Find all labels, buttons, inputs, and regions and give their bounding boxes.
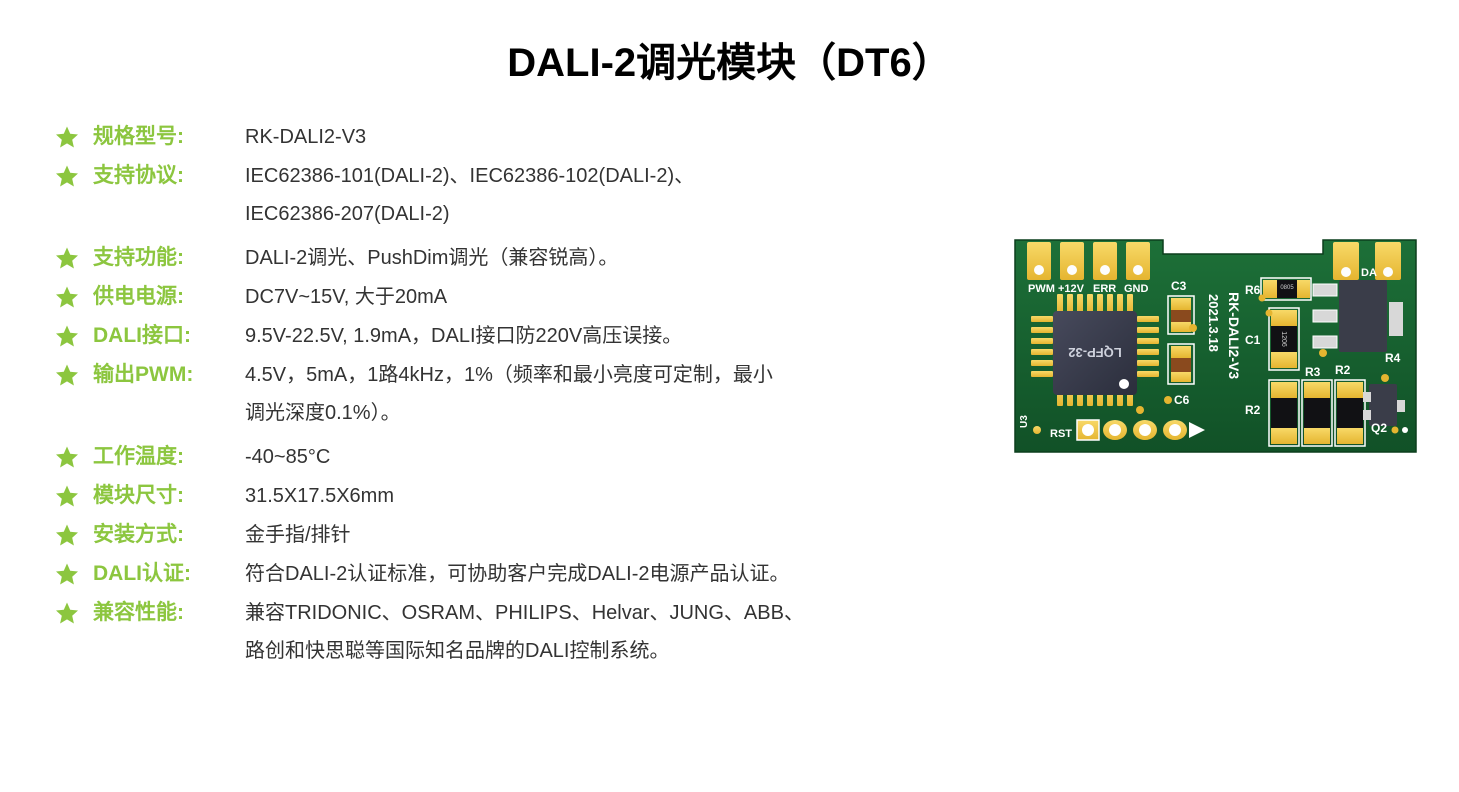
spec-label-model: 规格型号: [93, 122, 245, 152]
pcb-board-image: PWM +12V ERR GND DA [1013, 232, 1418, 460]
page-title: DALI-2调光模块（DT6） [0, 30, 1459, 88]
spec-value-line: 金手指/排针 [245, 520, 1005, 550]
spec-value-module-size: 31.5X17.5X6mm [245, 481, 1005, 511]
pcb-label-c3: C3 [1171, 279, 1187, 293]
star-icon [55, 360, 93, 387]
spec-value-line: IEC62386-207(DALI-2) [245, 199, 1005, 229]
spec-value-line: DC7V~15V, 大于20mA [245, 282, 1005, 312]
spec-value-line: 兼容TRIDONIC、OSRAM、PHILIPS、Helvar、JUNG、ABB… [245, 598, 1005, 628]
pcb-component-code-0805: 0805 [1280, 285, 1294, 291]
star-icon [55, 282, 93, 309]
star-icon [55, 161, 93, 188]
spec-label-power-supply: 供电电源: [93, 282, 245, 312]
spec-row-compatibility: 兼容性能: 兼容TRIDONIC、OSRAM、PHILIPS、Helvar、JU… [55, 598, 1005, 666]
star-icon [55, 559, 93, 586]
star-icon [55, 598, 93, 625]
spec-value-compatibility: 兼容TRIDONIC、OSRAM、PHILIPS、Helvar、JUNG、ABB… [245, 598, 1005, 666]
spec-row-mounting: 安装方式: 金手指/排针 [55, 520, 1005, 550]
spec-value-line: 9.5V-22.5V, 1.9mA，DALI接口防220V高压误接。 [245, 321, 1005, 351]
specification-list: 规格型号: RK-DALI2-V3 支持协议: IEC62386-101(DAL… [55, 122, 1005, 675]
spec-row-operating-temperature: 工作温度: -40~85°C [55, 442, 1005, 472]
spec-label-compatibility: 兼容性能: [93, 598, 245, 628]
pcb-label-rst: RST [1050, 428, 1072, 440]
spec-row-model: 规格型号: RK-DALI2-V3 [55, 122, 1005, 152]
spec-value-line: 31.5X17.5X6mm [245, 481, 1005, 511]
spec-value-functions: DALI-2调光、PushDim调光（兼容锐高）。 [245, 243, 1005, 273]
spec-value-line: 路创和快思聪等国际知名品牌的DALI控制系统。 [245, 636, 1005, 666]
spec-value-mounting: 金手指/排针 [245, 520, 1005, 550]
star-icon [55, 442, 93, 469]
pcb-marking-model: RK-DALI2-V3 [1226, 292, 1242, 379]
spec-row-module-size: 模块尺寸: 31.5X17.5X6mm [55, 481, 1005, 511]
spec-value-line: 4.5V，5mA，1路4kHz，1%（频率和最小亮度可定制，最小 [245, 360, 1005, 390]
pcb-label-q3: R4 [1385, 351, 1401, 365]
pcb-label-c6: C6 [1174, 393, 1190, 407]
spec-label-dali-certification: DALI认证: [93, 559, 245, 589]
spec-value-dali-certification: 符合DALI-2认证标准，可协助客户完成DALI-2电源产品认证。 [245, 559, 1005, 589]
spec-label-operating-temperature: 工作温度: [93, 442, 245, 472]
pcb-label-r3: R3 [1305, 365, 1321, 379]
spec-label-pwm-output: 输出PWM: [93, 360, 245, 390]
star-icon [55, 520, 93, 547]
spec-label-functions: 支持功能: [93, 243, 245, 273]
spec-value-dali-interface: 9.5V-22.5V, 1.9mA，DALI接口防220V高压误接。 [245, 321, 1005, 351]
pcb-ic-label: LQFP-32 [1068, 345, 1121, 360]
pcb-label-r2: R2 [1335, 363, 1351, 377]
pcb-marking-date: 2021.3.18 [1206, 294, 1221, 352]
pcb-component-code-1206: 1206 [1280, 331, 1287, 347]
pcb-label-u3: U3 [1019, 415, 1030, 428]
spec-row-functions: 支持功能: DALI-2调光、PushDim调光（兼容锐高）。 [55, 243, 1005, 273]
pcb-label-q2: Q2 [1371, 421, 1387, 435]
spec-label-module-size: 模块尺寸: [93, 481, 245, 511]
pcb-label-r6: R6 [1245, 283, 1261, 297]
spec-value-power-supply: DC7V~15V, 大于20mA [245, 282, 1005, 312]
pcb-label-12v: +12V [1058, 283, 1085, 295]
pcb-label-r4: R2 [1245, 403, 1261, 417]
spec-row-dali-certification: DALI认证: 符合DALI-2认证标准，可协助客户完成DALI-2电源产品认证… [55, 559, 1005, 589]
spec-value-line: 符合DALI-2认证标准，可协助客户完成DALI-2电源产品认证。 [245, 559, 1005, 589]
star-icon [55, 321, 93, 348]
pcb-label-pwm: PWM [1028, 283, 1055, 295]
spec-row-power-supply: 供电电源: DC7V~15V, 大于20mA [55, 282, 1005, 312]
pcb-label-err: ERR [1093, 283, 1116, 295]
spec-value-line: 调光深度0.1%）。 [245, 398, 1005, 428]
spec-row-dali-interface: DALI接口: 9.5V-22.5V, 1.9mA，DALI接口防220V高压误… [55, 321, 1005, 351]
spec-value-line: -40~85°C [245, 442, 1005, 472]
star-icon [55, 243, 93, 270]
spec-value-line: IEC62386-101(DALI-2)、IEC62386-102(DALI-2… [245, 161, 1005, 191]
spec-label-dali-interface: DALI接口: [93, 321, 245, 351]
spec-value-pwm-output: 4.5V，5mA，1路4kHz，1%（频率和最小亮度可定制，最小 调光深度0.1… [245, 360, 1005, 428]
pcb-label-gnd: GND [1124, 283, 1149, 295]
spec-label-mounting: 安装方式: [93, 520, 245, 550]
star-icon [55, 481, 93, 508]
spec-row-protocols: 支持协议: IEC62386-101(DALI-2)、IEC62386-102(… [55, 161, 1005, 229]
spec-row-pwm-output: 输出PWM: 4.5V，5mA，1路4kHz，1%（频率和最小亮度可定制，最小 … [55, 360, 1005, 428]
pcb-label-da: DA [1361, 267, 1377, 279]
spec-value-line: DALI-2调光、PushDim调光（兼容锐高）。 [245, 243, 1005, 273]
spec-value-line: RK-DALI2-V3 [245, 122, 1005, 152]
spec-value-operating-temperature: -40~85°C [245, 442, 1005, 472]
spec-value-model: RK-DALI2-V3 [245, 122, 1005, 152]
star-icon [55, 122, 93, 149]
spec-label-protocols: 支持协议: [93, 161, 245, 191]
pcb-label-c1: C1 [1245, 333, 1261, 347]
spec-value-protocols: IEC62386-101(DALI-2)、IEC62386-102(DALI-2… [245, 161, 1005, 229]
